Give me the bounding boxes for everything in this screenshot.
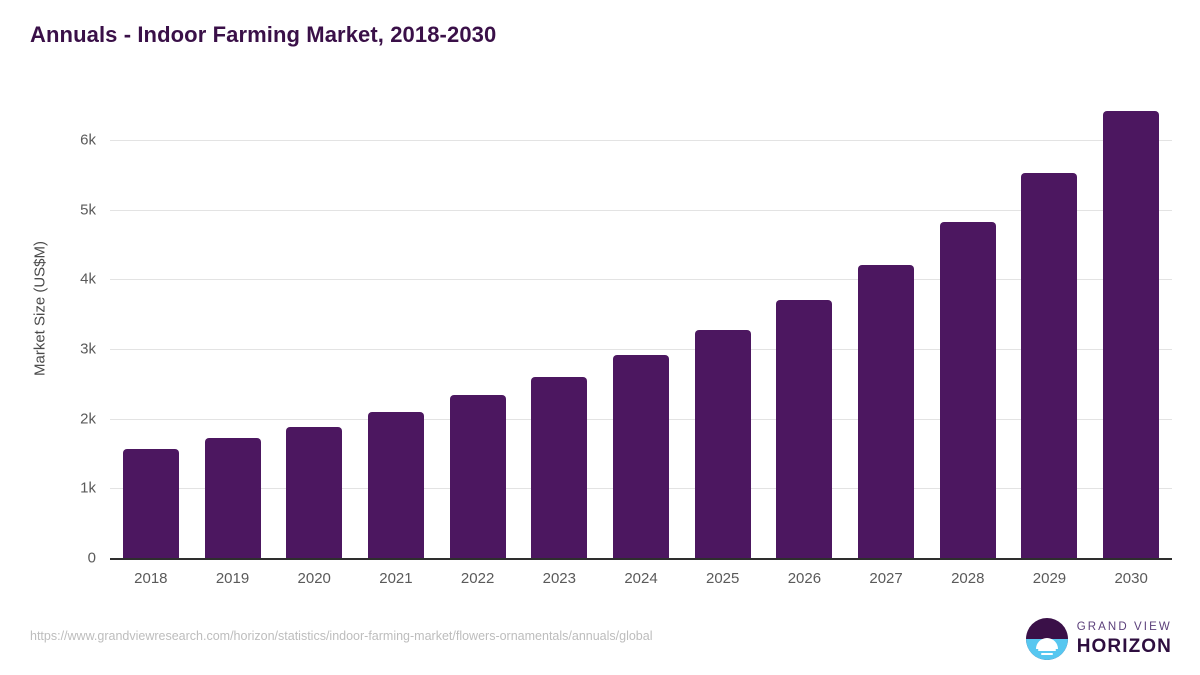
bar-2026[interactable] (776, 300, 832, 558)
x-axis-tick-label: 2019 (216, 570, 249, 587)
x-axis-tick-label: 2022 (461, 570, 494, 587)
y-axis-tick-label: 0 (36, 550, 96, 567)
bar-2027[interactable] (858, 265, 914, 558)
logo-ray-2 (1041, 653, 1053, 655)
logo-ray-1 (1038, 649, 1056, 651)
grid-line (110, 279, 1172, 280)
bar-2030[interactable] (1103, 111, 1159, 558)
y-axis-tick-label: 2k (36, 410, 96, 427)
grid-line (110, 349, 1172, 350)
y-axis-tick-label: 4k (36, 271, 96, 288)
bar-2020[interactable] (286, 427, 342, 558)
x-axis-tick-label: 2029 (1033, 570, 1066, 587)
logo-wordmark: GRAND VIEW HORIZON (1077, 622, 1172, 657)
bar-2029[interactable] (1021, 173, 1077, 558)
bar-2019[interactable] (205, 438, 261, 558)
x-axis-tick-label: 2028 (951, 570, 984, 587)
bar-2021[interactable] (368, 412, 424, 558)
y-axis-tick-label: 6k (36, 132, 96, 149)
x-axis-tick-label: 2020 (298, 570, 331, 587)
bar-2024[interactable] (613, 355, 669, 558)
x-axis-tick-label: 2026 (788, 570, 821, 587)
x-axis-tick-label: 2024 (624, 570, 657, 587)
logo-brand-primary: GRAND VIEW (1077, 622, 1172, 634)
x-axis-tick-label: 2018 (134, 570, 167, 587)
grid-line (110, 140, 1172, 141)
x-axis-tick-label: 2030 (1114, 570, 1147, 587)
bar-2028[interactable] (940, 222, 996, 558)
x-axis-tick-label: 2027 (869, 570, 902, 587)
bar-2025[interactable] (695, 330, 751, 558)
chart-plot-area: Market Size (US$M) 01k2k3k4k5k6k 2018201… (0, 0, 1200, 675)
sunrise-circle-icon (1026, 618, 1068, 660)
bar-2023[interactable] (531, 377, 587, 558)
y-axis-tick-label: 5k (36, 201, 96, 218)
y-axis-tick-label: 1k (36, 480, 96, 497)
grid-line (110, 210, 1172, 211)
y-axis-title: Market Size (US$M) (32, 109, 49, 509)
bar-2022[interactable] (450, 395, 506, 558)
y-axis-tick-label: 3k (36, 341, 96, 358)
x-axis-tick-label: 2025 (706, 570, 739, 587)
x-axis-tick-label: 2023 (543, 570, 576, 587)
bar-2018[interactable] (123, 449, 179, 558)
source-url[interactable]: https://www.grandviewresearch.com/horizo… (30, 629, 653, 643)
x-axis-line (110, 558, 1172, 560)
grand-view-horizon-logo: GRAND VIEW HORIZON (1026, 618, 1172, 660)
logo-brand-secondary: HORIZON (1077, 637, 1172, 656)
chart-page: Annuals - Indoor Farming Market, 2018-20… (0, 0, 1200, 675)
x-axis-tick-label: 2021 (379, 570, 412, 587)
